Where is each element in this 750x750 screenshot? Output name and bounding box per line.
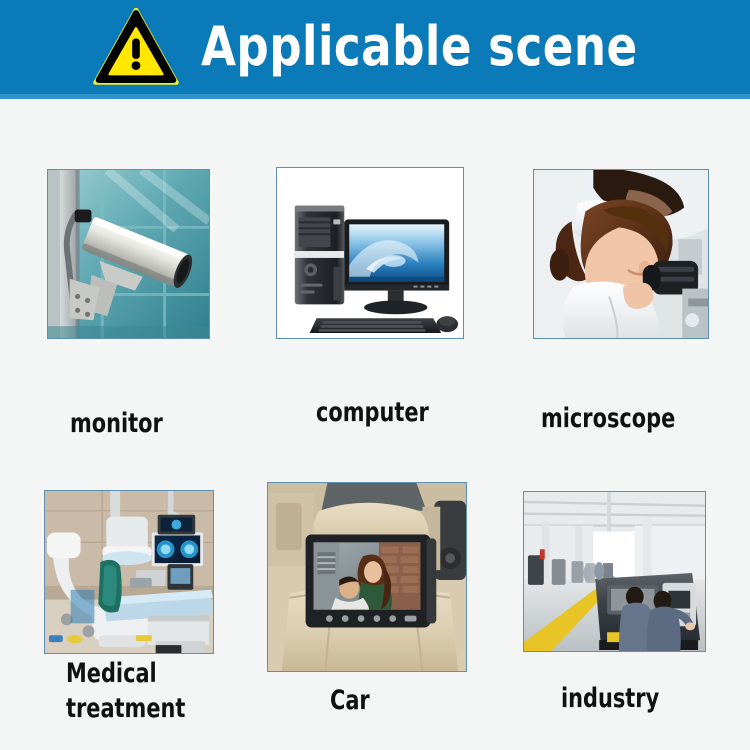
factory-workshop-photo — [524, 492, 705, 651]
cctv-security-camera-photo — [48, 170, 209, 338]
page-header: Applicable scene — [0, 0, 750, 94]
caption-medical: Medical treatment — [66, 657, 185, 726]
caption-car: Car — [330, 684, 370, 719]
page-title: Applicable scene — [201, 20, 638, 74]
thumbnail-medical[interactable] — [44, 490, 214, 654]
caption-monitor: monitor — [70, 407, 163, 442]
warning-triangle-icon — [93, 8, 179, 86]
thumbnail-monitor[interactable] — [47, 169, 210, 339]
thumbnail-industry[interactable] — [523, 491, 706, 652]
caption-industry: industry — [561, 682, 659, 717]
operating-room-photo — [45, 491, 213, 653]
thumbnail-computer[interactable] — [276, 167, 464, 339]
scene-grid: monitor — [0, 99, 750, 750]
lab-microscope-photo — [534, 170, 708, 338]
car-headrest-screen-photo — [268, 483, 466, 671]
thumbnail-microscope[interactable] — [533, 169, 709, 339]
caption-computer: computer — [316, 396, 429, 431]
desktop-computer-photo — [277, 168, 463, 338]
thumbnail-car[interactable] — [267, 482, 467, 672]
header-inner: Applicable scene — [0, 0, 750, 94]
caption-microscope: microscope — [541, 402, 675, 437]
